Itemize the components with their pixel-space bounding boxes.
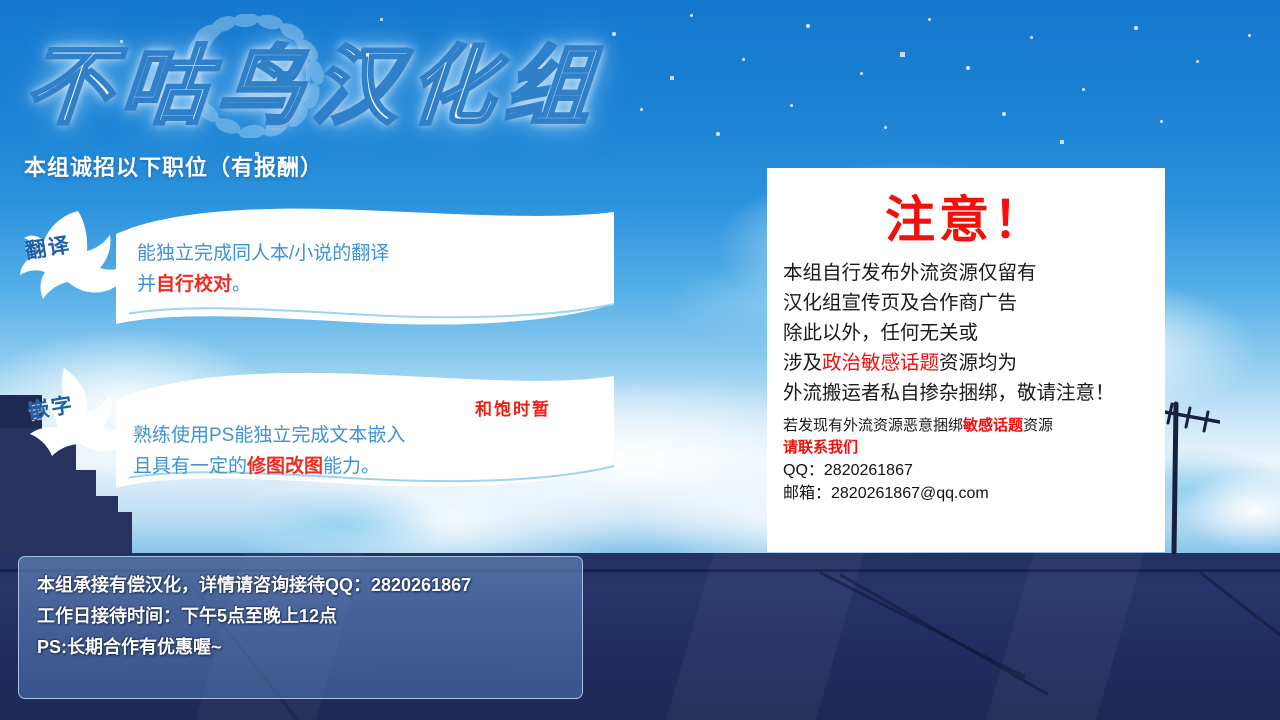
sparkle-dot [1082,88,1085,91]
job-requirement-text: 熟练使用PS能独立完成文本嵌入 且具有一定的修图改图能力。 [133,420,405,482]
page-subtitle: 本组诚招以下职位（有报酬） [24,150,323,182]
notice-line-highlight: 政治敏感话题 [822,352,939,374]
sparkle-dot [640,108,643,111]
notice-small-highlight: 敏感话题 [963,417,1023,434]
notice-line: 除此以外，任何无关或 [783,318,1165,348]
notice-contact-cta: 请联系我们 [783,437,1165,459]
job-req-line2-prefix: 并 [137,274,156,295]
sparkle-dot [742,58,745,61]
sparkle-dot [806,24,810,28]
notice-qq[interactable]: QQ：2820261867 [783,459,1165,482]
notice-small-prefix: 若发现有外流资源恶意捆绑 [783,417,963,434]
sparkle-dot [690,14,693,17]
notice-heading: 注意！ [767,192,1165,248]
sparkle-dot [1248,34,1251,37]
notice-line: 外流搬运者私自掺杂捆绑，敬请注意！ [783,378,1165,408]
sparkle-dot [966,66,970,70]
notice-email[interactable]: 邮箱：2820261867@qq.com [783,482,1165,505]
notice-line-prefix: 涉及 [783,352,822,374]
notice-line-prefix: 外流搬运者私自掺杂捆绑，敬请注意！ [783,382,1115,404]
job-requirement-text: 能独立完成同人本/小说的翻译 并自行校对。 [137,238,389,300]
roof-seam [1199,571,1280,647]
sparkle-dot [1196,60,1199,63]
notice-contact-cta-text: 请联系我们 [783,439,858,456]
service-info-line-1: 本组承接有偿汉化，详情请咨询接待QQ：2820261867 [37,570,582,601]
job-req-line1: 能独立完成同人本/小说的翻译 [137,243,389,264]
job-req-line2-prefix: 且具有一定的 [133,456,247,477]
poster-canvas: 不咕鸟汉化组 本组诚招以下职位（有报酬） 翻译 能独立完成同人本/小说的翻译 并… [0,0,1280,720]
job-req-line2-highlight: 自行校对 [156,274,232,295]
roof-panel [986,553,1144,720]
notice-line: 汉化组宣传页及合作商广告 [783,288,1165,318]
sparkle-dot [716,132,720,136]
notice-card: 注意！ 本组自行发布外流资源仅留有 汉化组宣传页及合作商广告 除此以外，任何无关… [767,168,1165,552]
notice-small-suffix: 资源 [1023,417,1053,434]
service-info-line-3: PS:长期合作有优惠喔~ [37,632,582,663]
sparkle-dot [1002,112,1006,116]
job-req-line1: 熟练使用PS能独立完成文本嵌入 [133,425,405,446]
notice-small-line: 若发现有外流资源恶意捆绑敏感话题资源 [783,415,1165,437]
notice-line-prefix: 汉化组宣传页及合作商广告 [783,292,1017,314]
service-info-panel: 本组承接有偿汉化，详情请咨询接待QQ：2820261867 工作日接待时间：下午… [18,556,583,699]
sparkle-dot [900,52,905,57]
sparkle-dot [1134,26,1138,30]
sparkle-dot [790,104,793,107]
notice-line-prefix: 除此以外，任何无关或 [783,322,978,344]
sparkle-dot [884,126,887,129]
job-req-line2-highlight: 修图改图 [247,456,323,477]
job-status-note: 暂时饱和 [472,400,548,420]
sparkle-dot [928,18,931,21]
sparkle-dot [860,72,863,75]
sparkle-dot [612,32,616,36]
sparkle-dot [1060,140,1064,144]
notice-line-suffix: 资源均为 [939,352,1017,374]
notice-line: 涉及政治敏感话题资源均为 [783,348,1165,378]
service-info-line-2: 工作日接待时间：下午5点至晚上12点 [37,601,582,632]
notice-line: 本组自行发布外流资源仅留有 [783,258,1165,288]
page-title: 不咕鸟汉化组 [21,16,608,141]
sparkle-dot [1030,36,1033,39]
sparkle-dot [670,76,674,80]
job-req-line2-suffix: 。 [232,274,251,295]
notice-line-prefix: 本组自行发布外流资源仅留有 [783,262,1037,284]
sparkle-dot [1160,120,1163,123]
job-req-line2-suffix: 能力。 [323,456,380,477]
